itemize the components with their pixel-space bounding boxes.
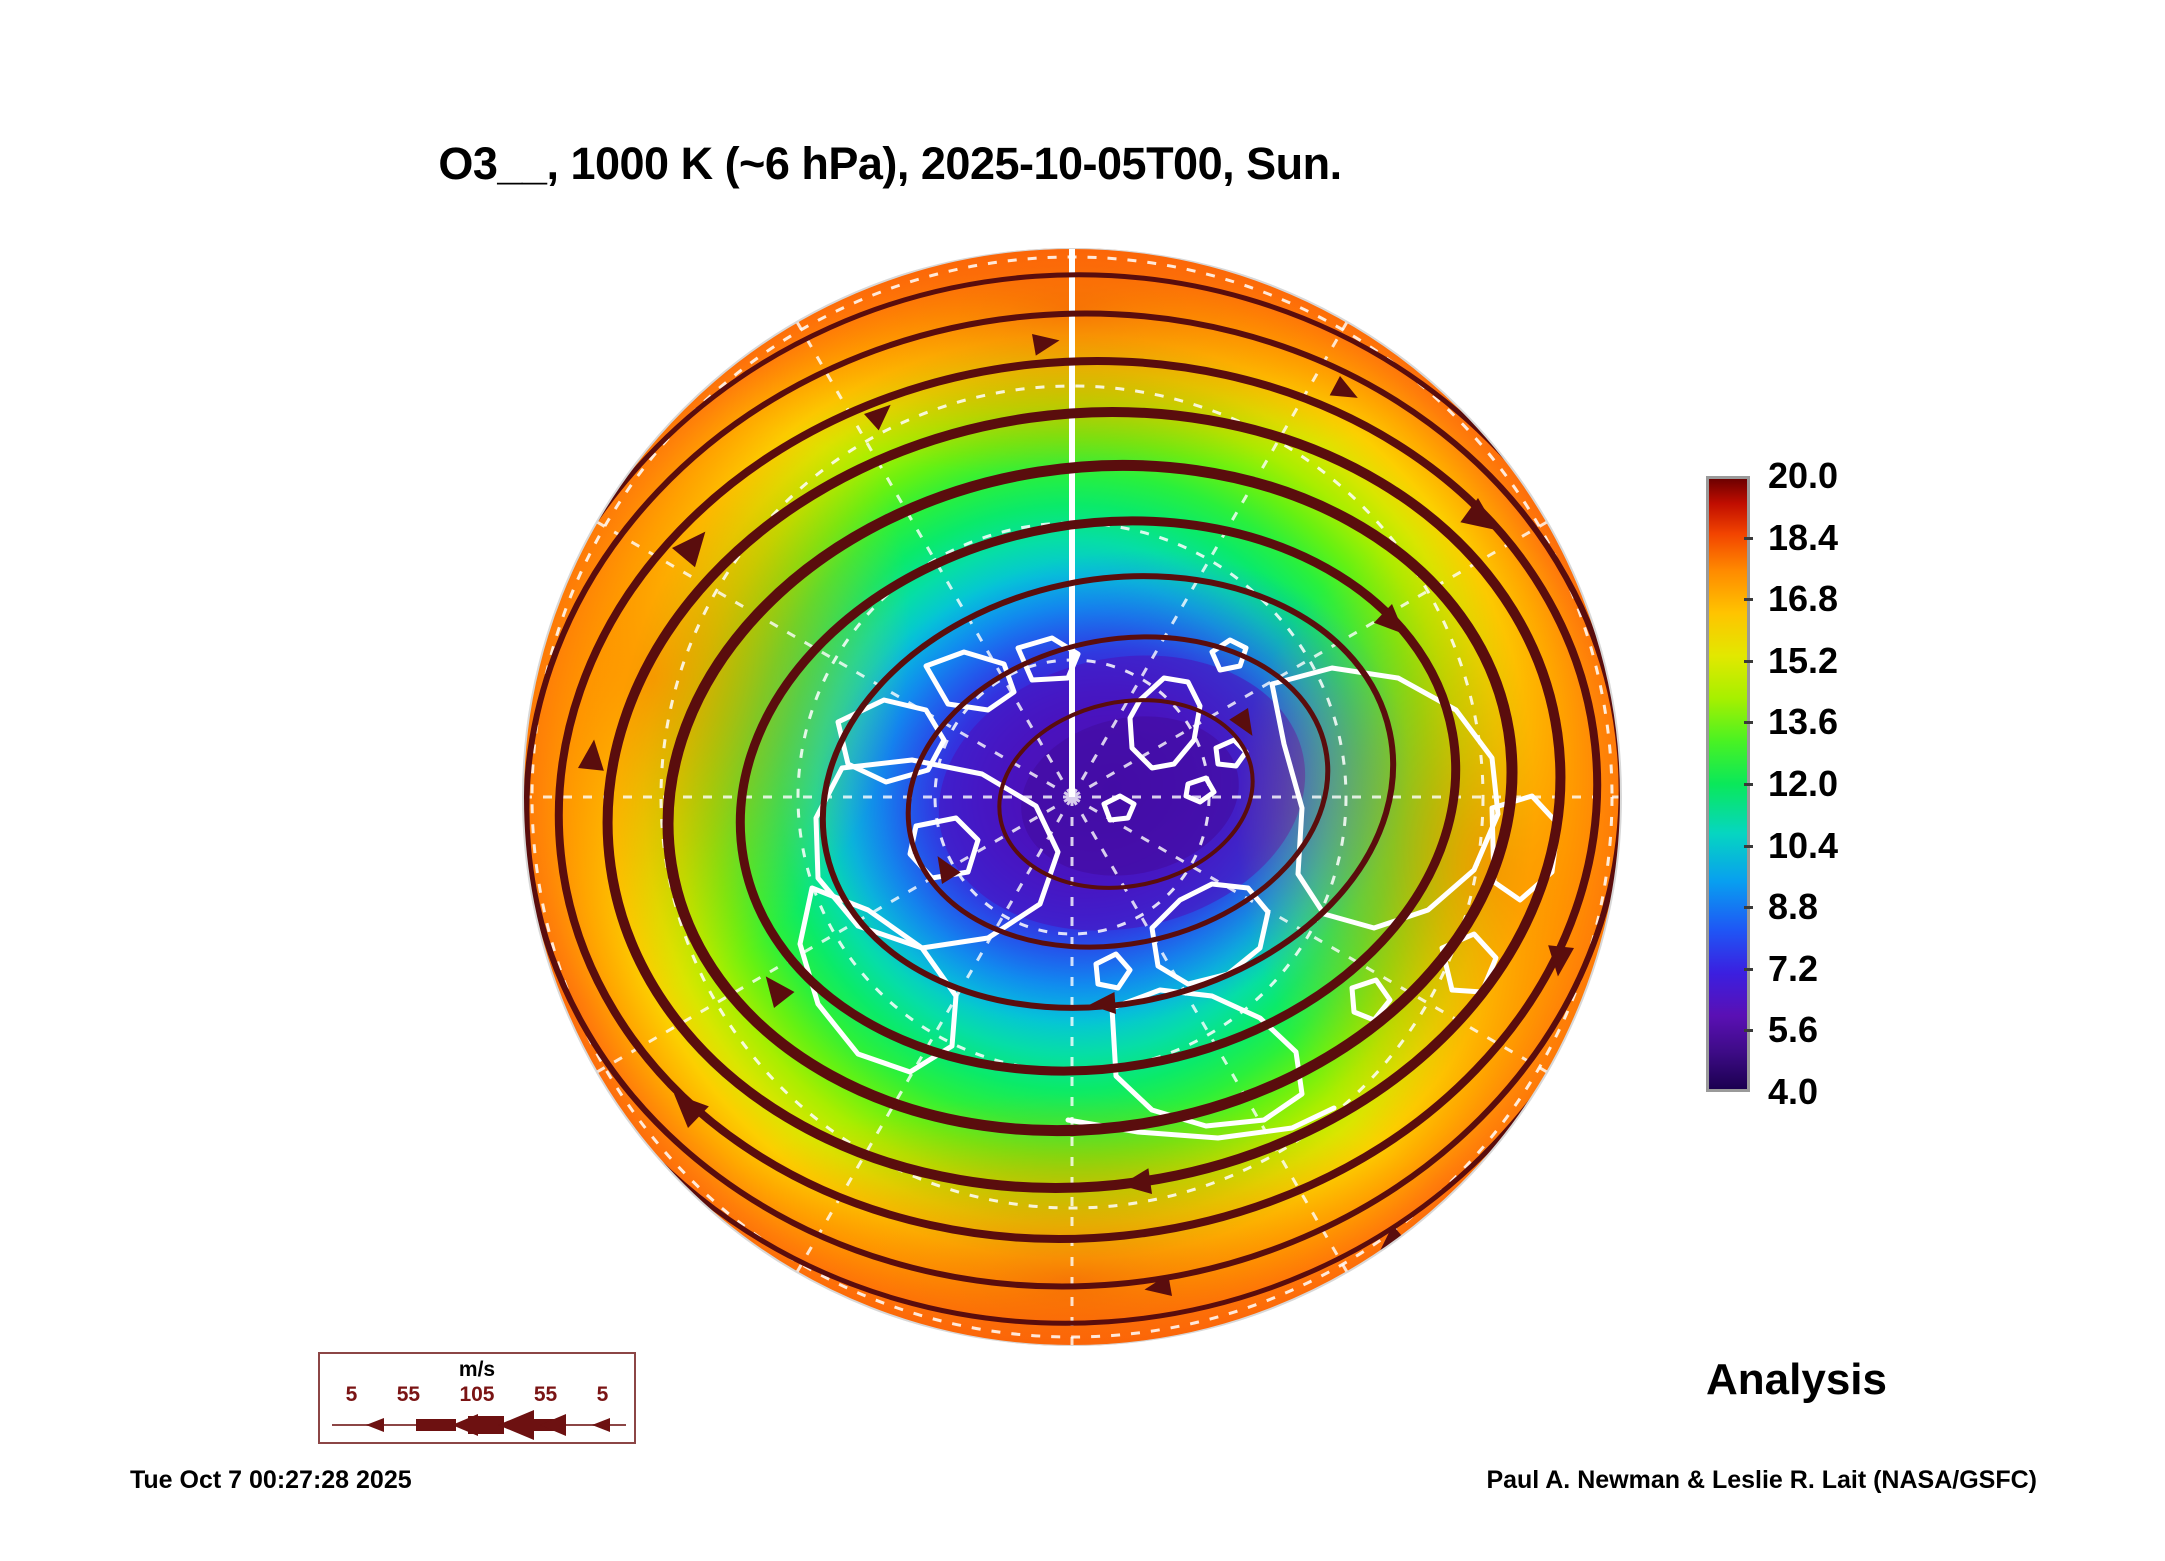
colorbar-tick-label: 15.2 [1768, 643, 1838, 679]
colorbar-tick-label: 18.4 [1768, 520, 1838, 556]
colorbar-tick-label: 12.0 [1768, 766, 1838, 802]
colorbar-tick [1744, 783, 1753, 786]
colorbar-tick [1744, 1029, 1753, 1032]
wind-legend-value: 105 [459, 1383, 494, 1407]
colorbar-tick-label: 8.8 [1768, 889, 1818, 925]
wind-legend-value: 55 [397, 1383, 420, 1407]
page-title: O3__, 1000 K (~6 hPa), 2025-10-05T00, Su… [0, 138, 1780, 190]
colorbar-tick [1744, 845, 1753, 848]
colorbar-tick-label: 7.2 [1768, 951, 1818, 987]
colorbar-tick-label: 13.6 [1768, 704, 1838, 740]
wind-legend-unit-label: m/s [320, 1358, 634, 1382]
colorbar-tick [1744, 660, 1753, 663]
analysis-label: Analysis [1706, 1355, 1887, 1405]
wind-legend-values: 555105555 [320, 1383, 634, 1407]
colorbar-tick [1744, 721, 1753, 724]
colorbar-tick [1744, 598, 1753, 601]
author-credit: Paul A. Newman & Leslie R. Lait (NASA/GS… [1486, 1466, 2037, 1495]
wind-legend-value: 5 [597, 1383, 609, 1407]
colorbar-tick-label: 5.6 [1768, 1012, 1818, 1048]
colorbar-tick [1744, 906, 1753, 909]
colorbar-tick [1744, 537, 1753, 540]
colorbar: 20.018.416.815.213.612.010.48.87.25.64.0 [1706, 476, 1966, 1096]
wind-legend-value: 5 [346, 1383, 358, 1407]
colorbar-tick-label: 20.0 [1768, 458, 1838, 494]
polar-map-panel [512, 236, 1646, 1356]
colorbar-tick-label: 10.4 [1768, 828, 1838, 864]
wind-legend-value: 55 [534, 1383, 557, 1407]
colorbar-tick-label: 4.0 [1768, 1074, 1818, 1110]
polar-projection-disk [512, 248, 1632, 1346]
ozone-heatmap-svg [512, 248, 1632, 1346]
generation-timestamp: Tue Oct 7 00:27:28 2025 [130, 1466, 412, 1495]
wind-speed-legend: m/s 555105555 [318, 1352, 636, 1444]
colorbar-tick [1744, 968, 1753, 971]
wind-legend-arrows [328, 1410, 630, 1440]
colorbar-tick-label: 16.8 [1768, 581, 1838, 617]
